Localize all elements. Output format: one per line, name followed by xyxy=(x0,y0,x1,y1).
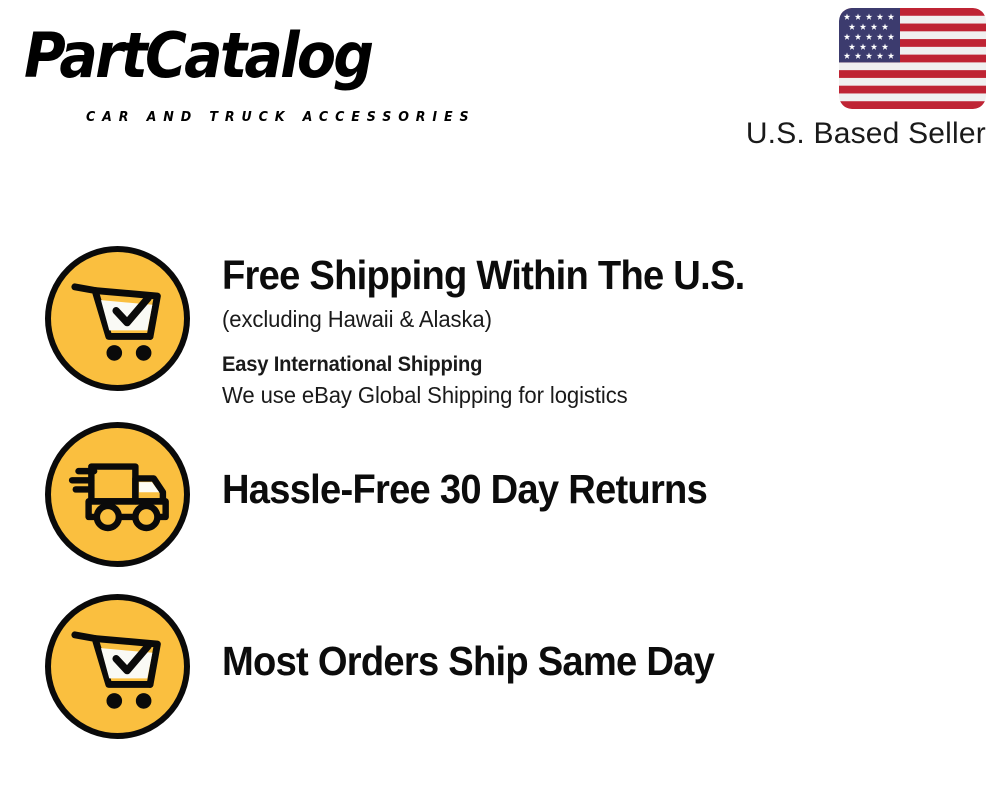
feature-title: Most Orders Ship Same Day xyxy=(222,638,929,684)
us-flag-icon xyxy=(839,8,986,109)
shopping-cart-check-icon xyxy=(45,594,190,739)
feature-title: Free Shipping Within The U.S. xyxy=(222,252,929,298)
feature-text: Free Shipping Within The U.S. (excluding… xyxy=(222,252,982,410)
brand-wordmark: PartCatalog xyxy=(24,22,371,90)
brand-logo[interactable]: PartCatalog CAR AND TRUCK ACCESSORIES xyxy=(24,22,494,117)
us-based-seller-badge: U.S. Based Seller xyxy=(726,8,986,151)
feature-international-heading: Easy International Shipping xyxy=(222,350,952,380)
feature-international-detail: We use eBay Global Shipping for logistic… xyxy=(222,380,952,410)
delivery-truck-icon xyxy=(45,422,190,567)
page-header: PartCatalog CAR AND TRUCK ACCESSORIES xyxy=(0,0,1000,175)
shopping-cart-check-icon xyxy=(45,246,190,391)
feature-text: Most Orders Ship Same Day xyxy=(222,638,982,684)
feature-title: Hassle-Free 30 Day Returns xyxy=(222,466,929,512)
feature-subtitle: (excluding Hawaii & Alaska) xyxy=(222,304,952,334)
seller-label: U.S. Based Seller xyxy=(726,117,986,151)
feature-text: Hassle-Free 30 Day Returns xyxy=(222,466,982,512)
feature-row-same-day-ship: Most Orders Ship Same Day xyxy=(0,588,1000,738)
brand-tagline: CAR AND TRUCK ACCESSORIES xyxy=(86,110,475,125)
feature-row-free-shipping: Free Shipping Within The U.S. (excluding… xyxy=(0,243,1000,398)
feature-row-returns: Hassle-Free 30 Day Returns xyxy=(0,418,1000,568)
